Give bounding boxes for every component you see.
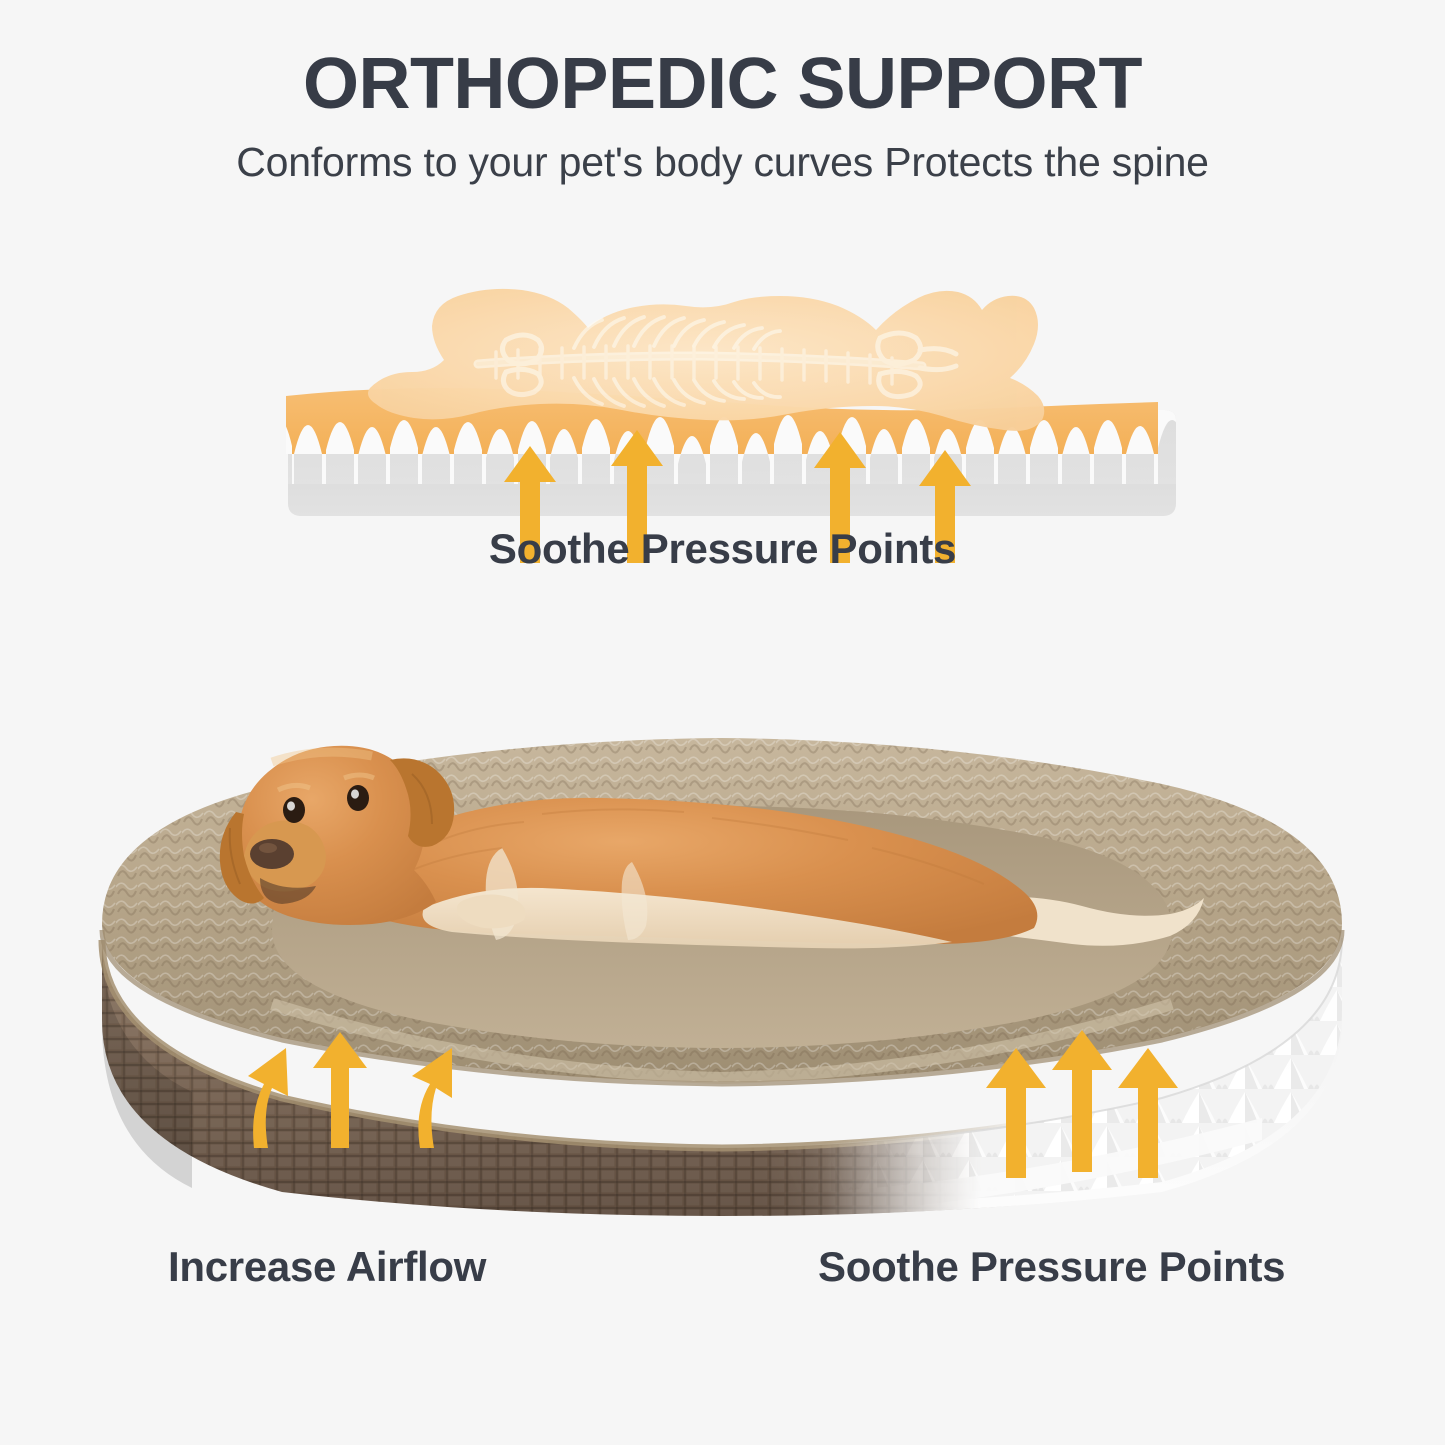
feature-label-row: Increase Airflow Soothe Pressure Points: [0, 1243, 1445, 1303]
header-block: ORTHOPEDIC SUPPORT Conforms to your pet'…: [0, 0, 1445, 186]
label-increase-airflow: Increase Airflow: [168, 1243, 486, 1291]
page-subtitle: Conforms to your pet's body curves Prote…: [0, 139, 1445, 186]
label-soothe-pressure-points: Soothe Pressure Points: [818, 1243, 1285, 1291]
dog-silhouette: [368, 289, 1044, 431]
infographic-page: ORTHOPEDIC SUPPORT Conforms to your pet'…: [0, 0, 1445, 1445]
page-title: ORTHOPEDIC SUPPORT: [0, 48, 1445, 121]
diagram-caption: Soothe Pressure Points: [0, 525, 1445, 573]
product-photo: [72, 648, 1372, 1238]
foam-pressure-arrows: [986, 1030, 1178, 1178]
